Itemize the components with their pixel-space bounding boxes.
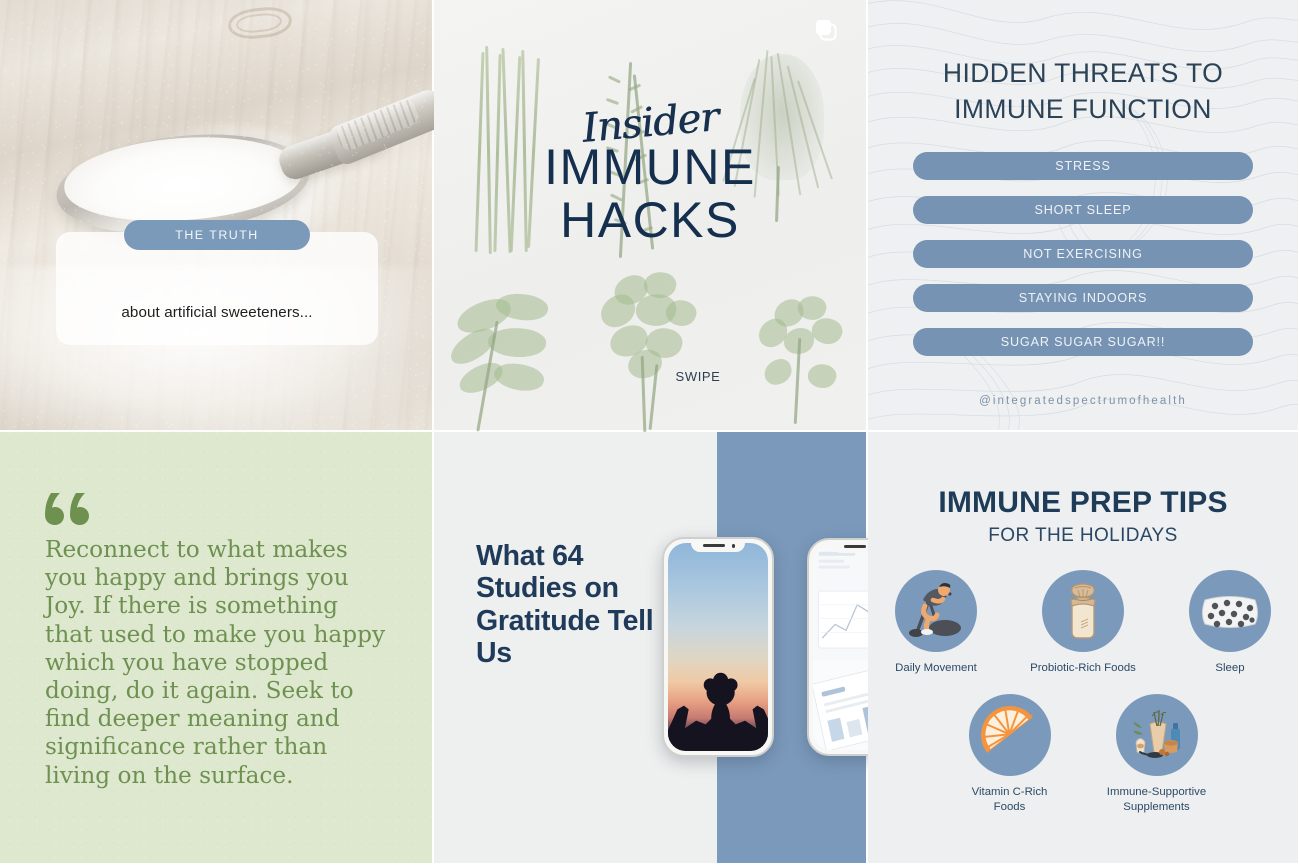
tips-grid: Daily Movement xyxy=(868,570,1298,815)
immune-hacks-post-canvas: Insider IMMUNE HACKS SWIPE xyxy=(434,0,866,430)
gratitude-post-canvas: What 64 Studies on Gratitude Tell Us Hea… xyxy=(434,432,866,863)
threats-list: STRESS SHORT SLEEP NOT EXERCISING STAYIN… xyxy=(913,152,1253,372)
title-line-2: IMMUNE FUNCTION xyxy=(868,92,1298,128)
tip-daily-movement[interactable]: Daily Movement xyxy=(882,570,990,676)
quote-mark-icon xyxy=(45,489,89,533)
tip-icon-badge xyxy=(895,570,977,652)
tip-label: Sleep xyxy=(1176,661,1284,676)
tip-label: Immune-Supportive Supplements xyxy=(1103,785,1211,815)
tip-label: Daily Movement xyxy=(882,661,990,676)
tip-probiotic-rich-foods[interactable]: Probiotic-Rich Foods xyxy=(1029,570,1137,676)
swipe-label: SWIPE xyxy=(676,369,721,384)
tips-row-1: Daily Movement xyxy=(868,570,1298,676)
orange-slice-icon xyxy=(969,694,1051,776)
exercise-bike-icon xyxy=(895,570,977,652)
tip-sleep[interactable]: Sleep xyxy=(1176,570,1284,676)
phone-notch-icon xyxy=(691,539,745,552)
sweeteners-post-canvas: about artificial sweeteners... THE TRUTH xyxy=(0,0,432,430)
quote-text: Reconnect to what makes you happy and br… xyxy=(45,536,390,790)
grid-post-4[interactable]: Reconnect to what makes you happy and br… xyxy=(0,432,434,865)
sage-leaves-icon xyxy=(442,290,572,432)
pillow-icon xyxy=(1189,570,1271,652)
grid-post-6[interactable]: IMMUNE PREP TIPS FOR THE HOLIDAYS xyxy=(868,432,1300,865)
post-title-block: Insider IMMUNE HACKS xyxy=(434,100,866,247)
fermentation-jar-icon xyxy=(1042,570,1124,652)
the-truth-badge[interactable]: THE TRUTH xyxy=(124,220,310,250)
brand-handle: @integratedspectrumofhealth xyxy=(868,395,1298,407)
swipe-prompt: SWIPE xyxy=(434,369,866,384)
hidden-threats-post-canvas: HIDDEN THREATS TO IMMUNE FUNCTION STRESS… xyxy=(868,0,1298,430)
tip-vitamin-c-rich-foods[interactable]: Vitamin C-Rich Foods xyxy=(956,694,1064,815)
carousel-icon xyxy=(812,16,840,44)
secondary-phone-mockup xyxy=(807,538,868,756)
primary-phone-mockup xyxy=(662,537,774,757)
page-title: IMMUNE PREP TIPS xyxy=(868,486,1298,520)
threat-item-not-exercising[interactable]: NOT EXERCISING xyxy=(913,240,1253,268)
grid-post-5[interactable]: What 64 Studies on Gratitude Tell Us Hea… xyxy=(434,432,868,865)
immune-prep-post-canvas: IMMUNE PREP TIPS FOR THE HOLIDAYS xyxy=(868,432,1298,863)
sugar-grain-texture xyxy=(0,0,432,430)
parsley-bunch-icon xyxy=(586,272,716,432)
instagram-grid-preview: about artificial sweeteners... THE TRUTH xyxy=(0,0,1300,865)
supplements-icon xyxy=(1116,694,1198,776)
threat-item-stress[interactable]: STRESS xyxy=(913,152,1253,180)
grid-post-1[interactable]: about artificial sweeteners... THE TRUTH xyxy=(0,0,434,432)
cilantro-sprig-icon xyxy=(746,294,858,432)
tip-icon-badge xyxy=(1189,570,1271,652)
threat-item-short-sleep[interactable]: SHORT SLEEP xyxy=(913,196,1253,224)
tip-icon-badge xyxy=(1042,570,1124,652)
tip-label: Vitamin C-Rich Foods xyxy=(956,785,1064,815)
threat-item-staying-indoors[interactable]: STAYING INDOORS xyxy=(913,284,1253,312)
immune-headline: IMMUNE xyxy=(434,141,866,194)
primary-phone-screen xyxy=(668,543,768,751)
hacks-headline: HACKS xyxy=(434,194,866,247)
tip-immune-supportive-supplements[interactable]: Immune-Supportive Supplements xyxy=(1103,694,1211,815)
title-line-1: HIDDEN THREATS TO xyxy=(868,56,1298,92)
post-headline: What 64 Studies on Gratitude Tell Us xyxy=(476,540,656,670)
tip-icon-badge xyxy=(1116,694,1198,776)
page-subtitle: FOR THE HOLIDAYS xyxy=(868,525,1298,547)
tip-icon-badge xyxy=(969,694,1051,776)
tip-label: Probiotic-Rich Foods xyxy=(1029,661,1137,676)
phone-notch-icon xyxy=(832,540,868,553)
grid-post-3[interactable]: HIDDEN THREATS TO IMMUNE FUNCTION STRESS… xyxy=(868,0,1300,432)
person-arms-raised-silhouette xyxy=(668,653,768,751)
tips-row-2: Vitamin C-Rich Foods xyxy=(868,694,1298,815)
quote-post-canvas: Reconnect to what makes you happy and br… xyxy=(0,432,432,863)
post-caption-text: about artificial sweeteners... xyxy=(121,304,312,321)
threat-item-sugar[interactable]: SUGAR SUGAR SUGAR!! xyxy=(913,328,1253,356)
grid-post-2[interactable]: Insider IMMUNE HACKS SWIPE xyxy=(434,0,868,432)
page-title: HIDDEN THREATS TO IMMUNE FUNCTION xyxy=(868,56,1298,128)
secondary-phone-screen xyxy=(813,544,868,750)
